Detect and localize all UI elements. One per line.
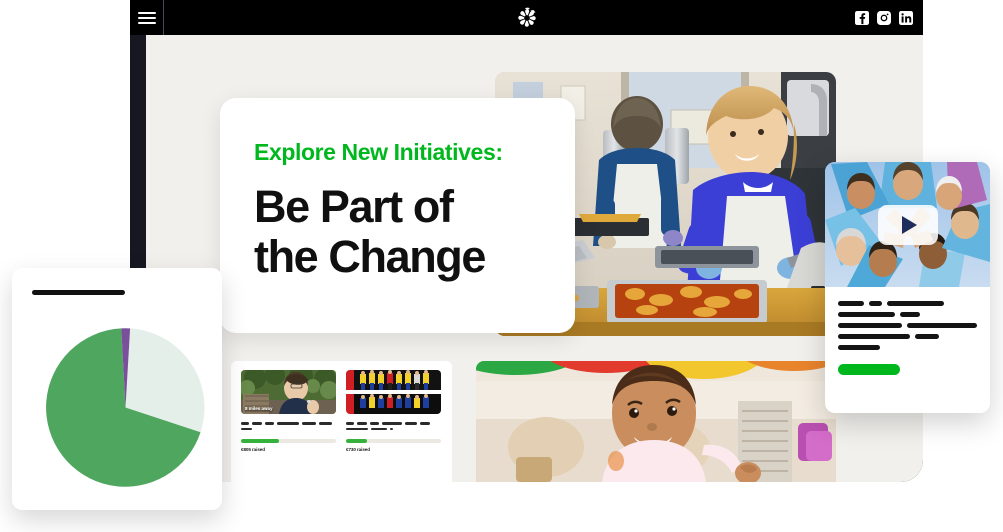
text-placeholder-row	[838, 345, 977, 350]
instagram-icon[interactable]	[877, 11, 891, 25]
campaign-title-placeholder	[346, 422, 441, 430]
child-photo	[476, 361, 836, 482]
progress-bar	[346, 439, 441, 443]
progress-fill	[241, 439, 279, 443]
amount-raised: €805 raised	[241, 447, 336, 452]
linkedin-icon[interactable]	[899, 11, 913, 25]
social-links	[855, 11, 913, 25]
campaign-thumbnail: 8 miles away	[241, 370, 336, 414]
hero-text-card: Explore New Initiatives: Be Part of the …	[220, 98, 575, 333]
distance-badge: 8 miles away	[245, 406, 273, 411]
play-triangle-icon[interactable]	[878, 205, 938, 245]
video-info-card	[825, 162, 990, 413]
hamburger-icon[interactable]	[130, 0, 164, 35]
headline-line-2: the Change	[254, 232, 541, 282]
page-canvas: Explore New Initiatives: Be Part of the …	[146, 35, 923, 482]
browser-topbar	[130, 0, 923, 35]
browser-frame: Explore New Initiatives: Be Part of the …	[130, 0, 923, 482]
chart-title-placeholder	[32, 290, 125, 295]
video-thumbnail[interactable]	[825, 162, 990, 287]
text-placeholder-row	[838, 312, 977, 317]
text-placeholder-row	[838, 301, 977, 306]
hero-eyebrow: Explore New Initiatives:	[254, 139, 541, 166]
pie-chart-card	[12, 268, 222, 510]
text-placeholder-row	[838, 334, 977, 339]
amount-raised: €730 raised	[346, 447, 441, 452]
cta-button[interactable]	[838, 364, 900, 375]
progress-fill	[346, 439, 367, 443]
video-card-body	[825, 287, 990, 388]
text-placeholder-row	[838, 323, 977, 328]
aperture-sunburst-logo	[515, 6, 539, 30]
facebook-icon[interactable]	[855, 11, 869, 25]
page-title: Be Part of the Change	[254, 182, 541, 283]
campaign-title-placeholder	[241, 422, 336, 430]
pie-chart	[43, 325, 208, 490]
screenshot-root: Explore New Initiatives: Be Part of the …	[0, 0, 1003, 532]
campaign-cards-panel: 8 miles away €805 raised	[231, 361, 452, 482]
headline-line-1: Be Part of	[254, 182, 541, 232]
campaign-thumbnail	[346, 370, 441, 414]
campaign-card[interactable]: €730 raised	[346, 370, 441, 473]
progress-bar	[241, 439, 336, 443]
campaign-card[interactable]: 8 miles away €805 raised	[241, 370, 336, 473]
